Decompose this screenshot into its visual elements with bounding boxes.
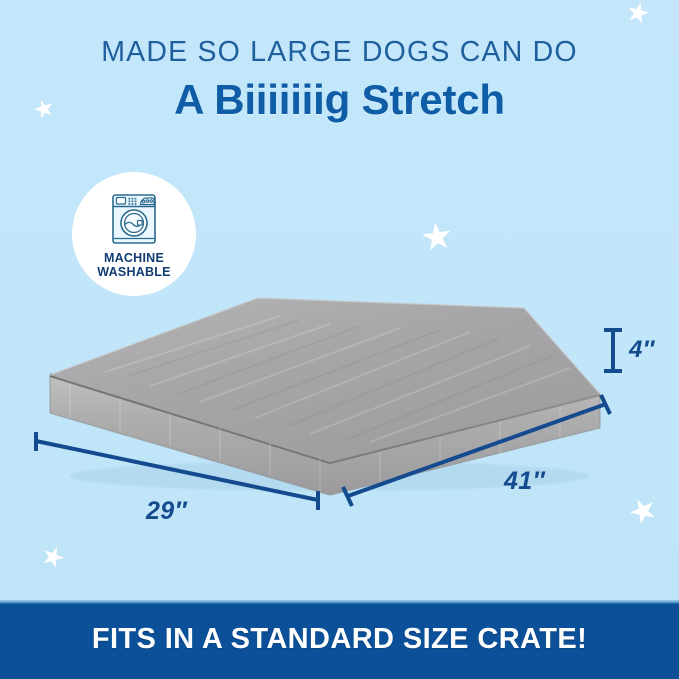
headline-kicker: MADE SO LARGE DOGS CAN DO [0, 38, 679, 68]
length-dimension-label: 41″ [504, 467, 545, 496]
badge-label: MACHINE WASHABLE [97, 251, 171, 279]
banner-text: FITS IN A STANDARD SIZE CRATE! [92, 623, 587, 656]
page-title: A Biiiiiiig Stretch [0, 76, 679, 123]
height-dimension-label: 4″ [629, 336, 655, 364]
width-dimension-label: 29″ [146, 497, 187, 526]
banner-top-edge [0, 600, 679, 604]
headline-block: MADE SO LARGE DOGS CAN DO A Biiiiiiig St… [0, 38, 679, 123]
bottom-banner: FITS IN A STANDARD SIZE CRATE! [0, 600, 679, 679]
washing-machine-icon [111, 193, 157, 245]
badge-label-line1: MACHINE [97, 251, 171, 265]
product-image [0, 276, 679, 506]
infographic-canvas: MADE SO LARGE DOGS CAN DO A Biiiiiiig St… [0, 0, 679, 679]
